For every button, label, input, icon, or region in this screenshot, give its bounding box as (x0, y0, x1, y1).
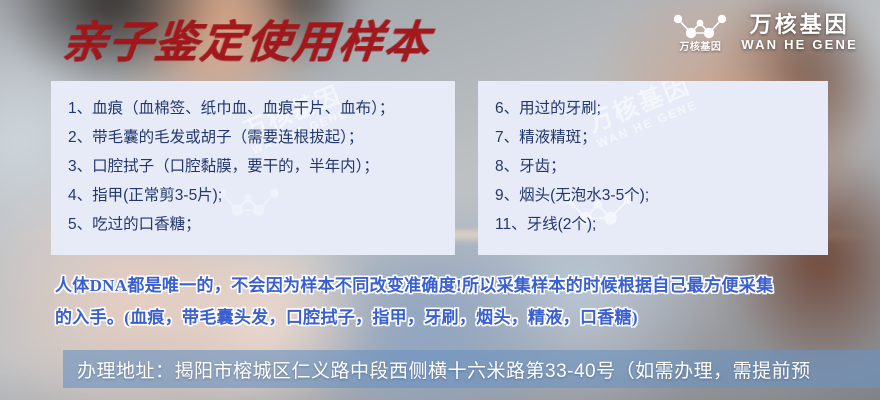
list-item: 1、血痕（血棉签、纸巾血、血痕干片、血布）； (68, 94, 455, 123)
molecule-icon (671, 12, 729, 42)
list-item: 5、吃过的口香糖； (68, 210, 455, 239)
sample-list-left: 1、血痕（血棉签、纸巾血、血痕干片、血布）； 2、带毛囊的毛发或胡子（需要连根拔… (51, 81, 455, 239)
poster-root: 亲子鉴定使用样本 (0, 0, 880, 400)
list-item: 8、牙齿； (495, 152, 828, 181)
note-paragraph: 人体DNA都是唯一的，不会因为样本不同改变准确度!所以采集样本的时候根据自己最方… (55, 270, 845, 334)
address-bar: 办理地址：揭阳市榕城区仁义路中段西侧横十六米路第33-40号（如需办理，需提前预 (63, 350, 880, 388)
list-item: 6、用过的牙刷; (495, 94, 828, 123)
note-line-1: 人体DNA都是唯一的，不会因为样本不同改变准确度!所以采集样本的时候根据自己最方… (55, 270, 845, 302)
list-item: 2、带毛囊的毛发或胡子（需要连根拔起）； (68, 123, 455, 152)
brand-name-cn: 万核基因 (750, 13, 850, 36)
list-item: 4、指甲(正常剪3-5片); (68, 181, 455, 210)
brand-name-en: WAN HE GENE (741, 38, 858, 52)
brand-logo: 万核基因 万核基因 WAN HE GENE (671, 12, 858, 53)
logo-mark: 万核基因 (671, 12, 729, 53)
note-line-2: 的入手。(血痕，带毛囊头发，口腔拭子，指甲，牙刷，烟头，精液，口香糖) (55, 302, 845, 334)
sample-list-panel-left: 万核基因 WAN HE GENE 1、血痕（血棉签、纸巾血、血痕干片、血布）； … (51, 81, 455, 255)
logo-mark-label: 万核基因 (679, 43, 721, 53)
list-item: 3、口腔拭子（口腔黏膜，要干的，半年内）； (68, 152, 455, 181)
page-title: 亲子鉴定使用样本 (60, 6, 435, 70)
sample-list-panel-right: 万核基因 WAN HE GENE 6、用过的牙刷; 7、精液精斑； 8、牙齿； … (478, 81, 828, 255)
address-text: 办理地址：揭阳市榕城区仁义路中段西侧横十六米路第33-40号（如需办理，需提前预 (63, 356, 811, 383)
list-item: 9、烟头(无泡水3-5个); (495, 181, 828, 210)
list-item: 7、精液精斑； (495, 123, 828, 152)
sample-list-right: 6、用过的牙刷; 7、精液精斑； 8、牙齿； 9、烟头(无泡水3-5个); 11… (478, 81, 828, 239)
brand-wordmark: 万核基因 WAN HE GENE (741, 13, 858, 52)
list-item: 11、牙线(2个); (495, 210, 828, 239)
